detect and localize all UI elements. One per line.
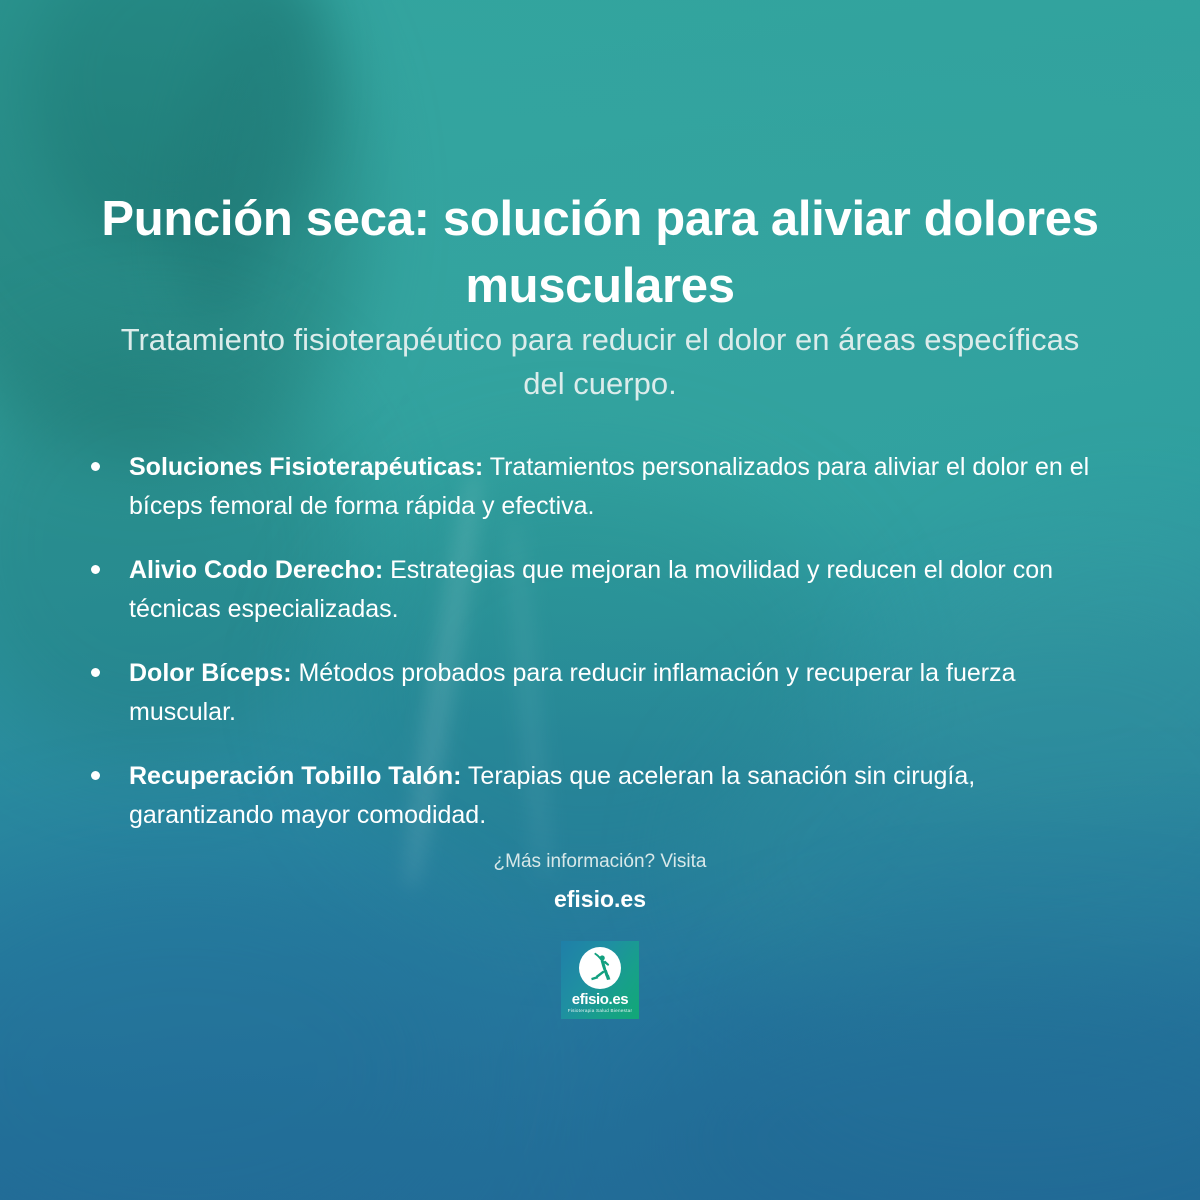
list-item-lead: Dolor Bíceps: <box>129 659 292 687</box>
bullet-dot-icon <box>91 462 100 471</box>
list-item-lead: Soluciones Fisioterapéuticas: <box>129 453 483 481</box>
list-item: Soluciones Fisioterapéuticas: Tratamient… <box>85 448 1095 526</box>
logo-circle-badge <box>579 947 621 989</box>
list-item: Recuperación Tobillo Talón: Terapias que… <box>85 757 1095 835</box>
poster-content: Punción seca: solución para aliviar dolo… <box>0 0 1200 1200</box>
page-subtitle: Tratamiento fisioterapéutico para reduci… <box>120 318 1080 406</box>
cta-prompt: ¿Más información? Visita <box>0 848 1200 877</box>
list-item-lead: Alivio Codo Derecho: <box>129 556 383 584</box>
bullet-dot-icon <box>91 668 100 677</box>
promo-poster: Punción seca: solución para aliviar dolo… <box>0 0 1200 1200</box>
logo-tagline: Fisioterapia Salud Bienestar <box>568 1009 632 1014</box>
stretching-person-icon <box>583 951 617 985</box>
benefits-list: Soluciones Fisioterapéuticas: Tratamient… <box>85 448 1095 860</box>
brand-logo[interactable]: efisio.es Fisioterapia Salud Bienestar <box>561 941 639 1019</box>
page-title: Punción seca: solución para aliviar dolo… <box>100 186 1100 319</box>
cta-website-link[interactable]: efisio.es <box>0 882 1200 917</box>
bullet-dot-icon <box>91 771 100 780</box>
call-to-action: ¿Más información? Visita efisio.es <box>0 848 1200 916</box>
list-item: Alivio Codo Derecho: Estrategias que mej… <box>85 551 1095 629</box>
logo-wordmark: efisio.es <box>572 992 628 1007</box>
list-item: Dolor Bíceps: Métodos probados para redu… <box>85 654 1095 732</box>
list-item-lead: Recuperación Tobillo Talón: <box>129 762 461 790</box>
bullet-dot-icon <box>91 565 100 574</box>
